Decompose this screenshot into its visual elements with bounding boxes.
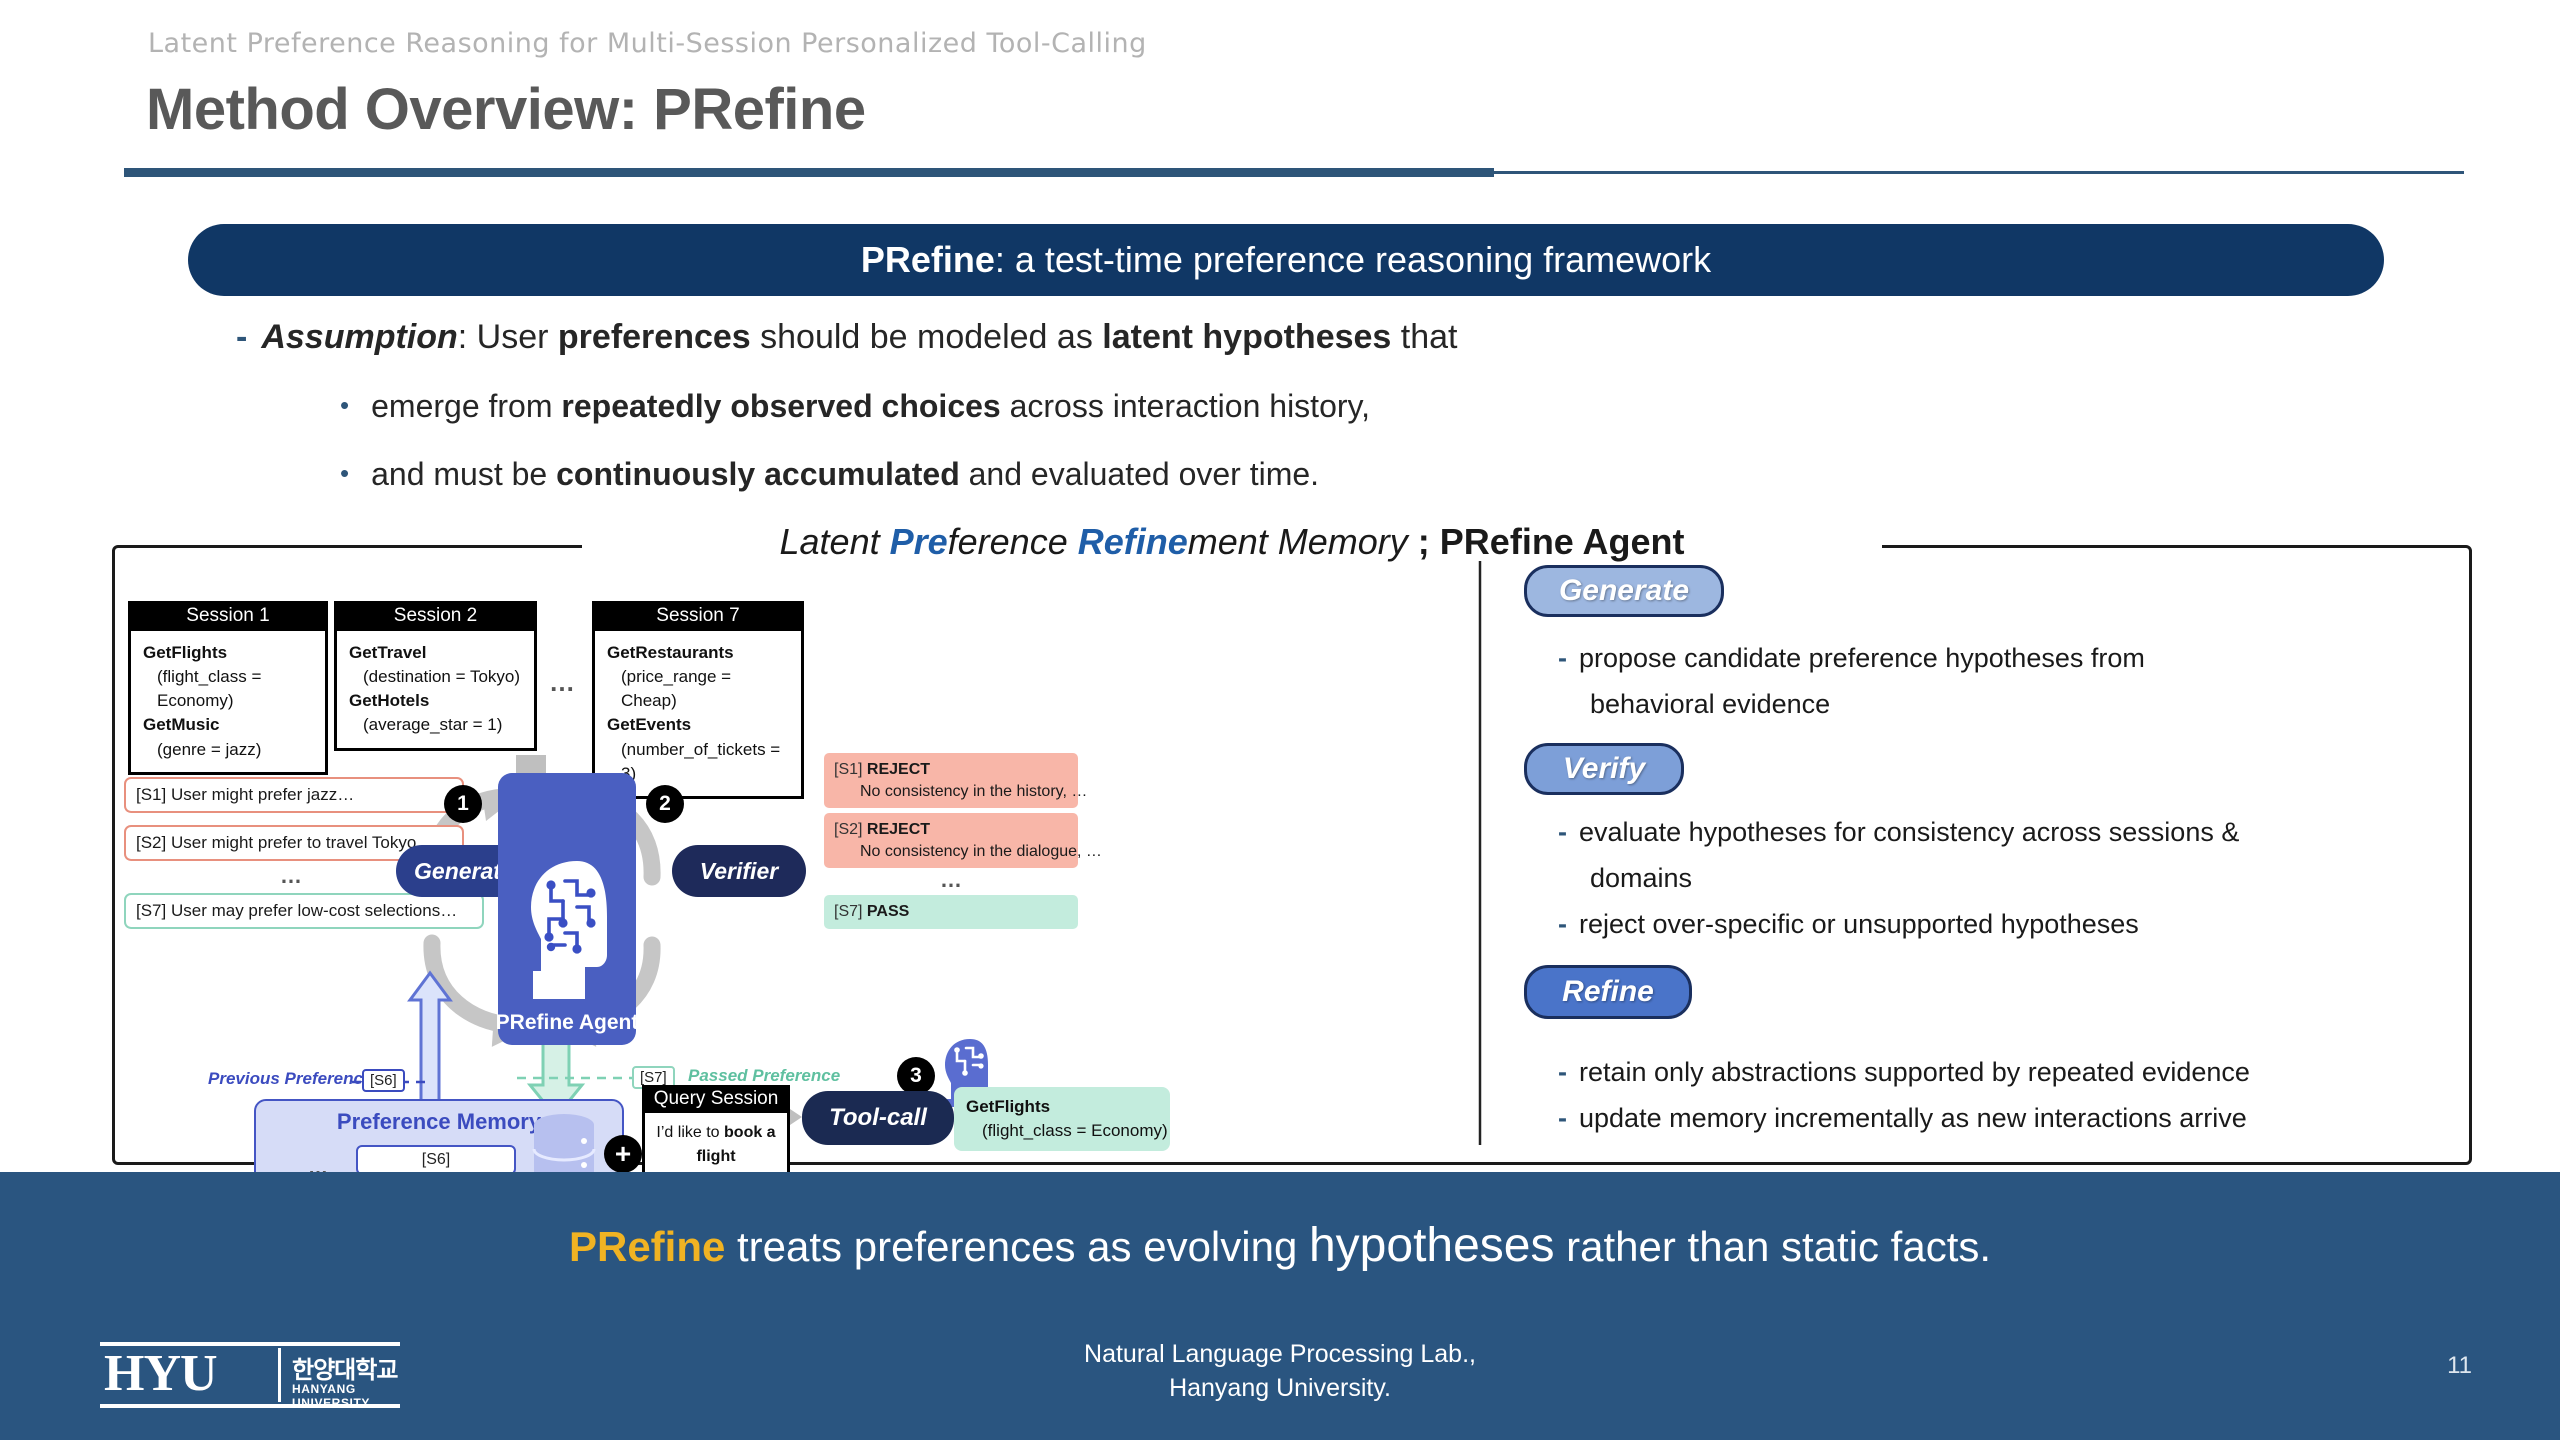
tool-name: GetFlights [143, 641, 313, 665]
sub1-p2: across interaction history, [1001, 388, 1370, 424]
assumption-p3: that [1391, 318, 1457, 356]
footer-lab-line2: Hanyang University. [0, 1372, 2560, 1406]
item-line1: reject over-specific or unsupported hypo… [1579, 909, 2139, 939]
bullet-dash: - [236, 318, 247, 356]
refine-pill: Refine [1524, 965, 1692, 1019]
verdict-box: [S7] PASS [824, 895, 1078, 929]
tool-output-box: GetFlights (flight_class = Economy) [954, 1087, 1170, 1151]
takeaway-mid: treats preferences as evolving [725, 1223, 1309, 1270]
session-header: Session 7 [592, 601, 804, 631]
verdict-tag: [S1] [834, 761, 862, 778]
item-dash: - [1558, 643, 1567, 673]
fig-title-a: Latent [780, 521, 890, 562]
page-number: 11 [2447, 1352, 2472, 1380]
sub1-p1: emerge from [371, 388, 561, 424]
previous-preference-tag: [S6] [362, 1069, 405, 1092]
output-tool-arg: (flight_class = Economy) [966, 1119, 1158, 1143]
item-line1: retain only abstractions supported by re… [1579, 1057, 2250, 1087]
item-line1: update memory incrementally as new inter… [1579, 1103, 2247, 1133]
query-line-1: I’d like to book a flight [651, 1121, 781, 1169]
tool-name: GetEvents [607, 713, 789, 737]
bullet-dot: • [340, 390, 349, 420]
footer-lab: Natural Language Processing Lab., Hanyan… [0, 1338, 2560, 1406]
agent-label: PRefine Agent [496, 1011, 639, 1035]
session-header: Session 2 [334, 601, 537, 631]
sub-bullet-2: •and must be continuously accumulated an… [340, 456, 1319, 493]
fig-title-blue2: Refine [1078, 521, 1188, 562]
session-body: GetFlights (flight_class = Economy) GetM… [128, 631, 328, 775]
fig-title-c: ment Memory [1188, 521, 1418, 562]
tool-name: GetMusic [143, 713, 313, 737]
item-dash: - [1558, 817, 1567, 847]
memory-slot-s6: [S6] [356, 1145, 516, 1175]
verdict-label: REJECT [867, 761, 930, 778]
verdict-tag: [S2] [834, 821, 862, 838]
verdict-reason: No consistency in the dialogue, … [834, 841, 1068, 863]
passed-preference-label: Passed Preference [688, 1066, 840, 1086]
hypotheses-ellipsis: … [280, 863, 302, 889]
previous-preference-label: Previous Preference [208, 1069, 372, 1089]
plus-icon: + [604, 1135, 642, 1173]
tool-arg: (price_range = Cheap) [607, 665, 789, 713]
takeaway-tail: rather than static facts. [1555, 1223, 1992, 1270]
hypothesis-chip: [S1] User might prefer jazz… [124, 777, 464, 813]
tool-call-pill[interactable]: Tool-call [802, 1091, 954, 1145]
fig-title-b: ference [948, 521, 1078, 562]
framework-banner: PRefine: a test-time preference reasonin… [188, 224, 2384, 296]
sub2-p2: and evaluated over time. [960, 456, 1319, 492]
hypothesis-chip: [S7] User may prefer low-cost selections… [124, 893, 484, 929]
tool-arg: (average_star = 1) [349, 713, 522, 737]
slide-eyebrow: Latent Preference Reasoning for Multi-Se… [148, 28, 1147, 59]
verdict-reason: No consistency in the history, … [834, 781, 1068, 803]
session-header: Session 1 [128, 601, 328, 631]
session-card: Session 1 GetFlights (flight_class = Eco… [128, 601, 328, 775]
output-tool-name: GetFlights [966, 1097, 1050, 1116]
session-card: Session 2 GetTravel (destination = Tokyo… [334, 601, 537, 751]
verify-item-1: -evaluate hypotheses for consistency acr… [1558, 817, 2239, 848]
verifier-pill[interactable]: Verifier [672, 845, 806, 897]
verify-item-2: -reject over-specific or unsupported hyp… [1558, 909, 2139, 940]
refine-item-2: -update memory incrementally as new inte… [1558, 1103, 2247, 1134]
generate-item-1-cont: behavioral evidence [1590, 689, 1830, 720]
item-line1: evaluate hypotheses for consistency acro… [1579, 817, 2239, 847]
tool-name: GetRestaurants [607, 641, 789, 665]
item-line1: propose candidate preference hypotheses … [1579, 643, 2145, 673]
step-badge-2: 2 [646, 785, 684, 823]
figure-title: Latent Preference Refinement Memory ; PR… [582, 521, 1882, 563]
verify-pill: Verify [1524, 743, 1684, 795]
sub2-p1: and must be [371, 456, 556, 492]
step-badge-1: 1 [444, 785, 482, 823]
verdict-label: PASS [867, 903, 909, 920]
step-badge-3: 3 [897, 1057, 935, 1095]
refine-item-1: -retain only abstractions supported by r… [1558, 1057, 2250, 1088]
assumption-bullet: -Assumption: User preferences should be … [236, 318, 1458, 357]
banner-rest: : a test-time preference reasoning frame… [995, 239, 1711, 281]
verify-item-1-cont: domains [1590, 863, 1692, 894]
item-dash: - [1558, 1057, 1567, 1087]
brain-head-icon [519, 855, 615, 1005]
session-card: Session 7 GetRestaurants (price_range = … [592, 601, 804, 799]
verdict-tag: [S7] [834, 903, 862, 920]
item-dash: - [1558, 1103, 1567, 1133]
tool-arg: (destination = Tokyo) [349, 665, 522, 689]
session-body: GetTravel (destination = Tokyo) GetHotel… [334, 631, 537, 751]
assumption-b1: preferences [558, 318, 751, 356]
footer-lab-line1: Natural Language Processing Lab., [0, 1338, 2560, 1372]
assumption-b2: latent hypotheses [1102, 318, 1391, 356]
takeaway-text: PRefine treats preferences as evolving h… [0, 1218, 2560, 1273]
sessions-ellipsis: … [549, 667, 575, 698]
query-session-header: Query Session [642, 1085, 790, 1113]
verdict-box: [S1] REJECT No consistency in the histor… [824, 753, 1078, 808]
verdict-box: [S2] REJECT No consistency in the dialog… [824, 813, 1078, 868]
tool-name: GetTravel [349, 641, 522, 665]
generate-item-1: -propose candidate preference hypotheses… [1558, 643, 2145, 674]
tool-name: GetHotels [349, 689, 522, 713]
title-rule-dark [124, 168, 1494, 177]
bullet-dot: • [340, 458, 349, 488]
method-figure: Latent Preference Refinement Memory ; PR… [112, 545, 2472, 1165]
banner-bold: PRefine [861, 239, 995, 281]
assumption-p1: : User [458, 318, 558, 356]
sub2-b1: continuously accumulated [556, 456, 960, 492]
fig-title-bold: PRefine Agent [1440, 521, 1685, 562]
query-line1-a: I’d like to [656, 1124, 724, 1141]
fig-title-semi: ; [1418, 521, 1440, 562]
takeaway-highlight: PRefine [569, 1223, 725, 1270]
fig-title-blue1: Pre [890, 521, 948, 562]
assumption-p2: should be modeled as [751, 318, 1103, 356]
assumption-em: Assumption [261, 318, 457, 356]
tool-arg: (flight_class = Economy) [143, 665, 313, 713]
item-dash: - [1558, 909, 1567, 939]
generate-pill: Generate [1524, 565, 1724, 617]
tool-arg: (genre = jazz) [143, 738, 313, 762]
slide: Latent Preference Reasoning for Multi-Se… [0, 0, 2560, 1440]
sub1-b1: repeatedly observed choices [561, 388, 1000, 424]
prefine-agent-box[interactable]: PRefine Agent [498, 773, 636, 1045]
verdicts-ellipsis: … [940, 867, 962, 893]
page-title: Method Overview: PRefine [146, 76, 866, 143]
verdict-label: REJECT [867, 821, 930, 838]
title-rule-light [1494, 171, 2464, 174]
sub-bullet-1: •emerge from repeatedly observed choices… [340, 388, 1370, 425]
tool-arg: (number_of_tickets = 3) [607, 738, 789, 786]
takeaway-big: hypotheses [1309, 1219, 1555, 1272]
